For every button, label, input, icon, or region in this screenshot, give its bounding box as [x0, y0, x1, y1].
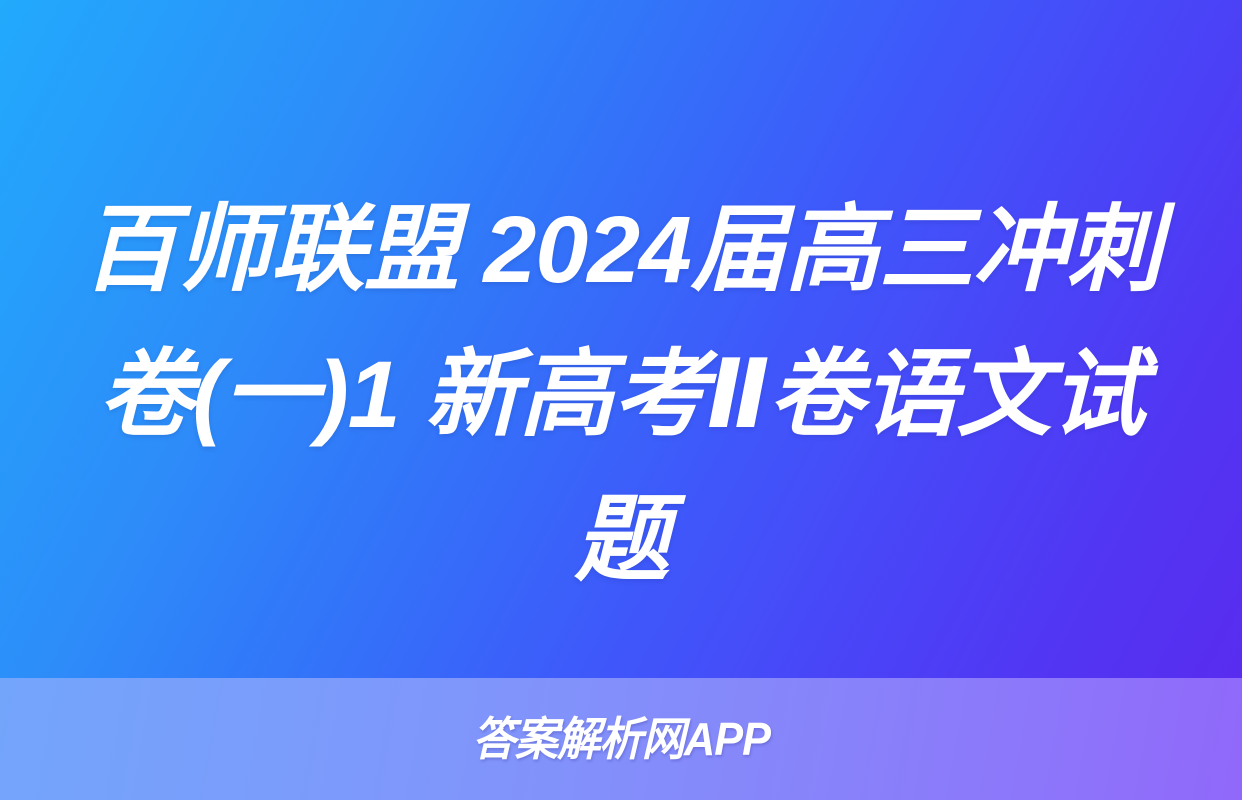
hero-gradient-banner: 百师联盟 2024届高三冲刺卷(一)1 新高考Ⅱ卷语文试题 — [0, 0, 1242, 678]
footer-watermark-text: 答案解析网APP — [472, 716, 770, 762]
footer-watermark-band: 答案解析网APP — [0, 678, 1242, 800]
page-title: 百师联盟 2024届高三冲刺卷(一)1 新高考Ⅱ卷语文试题 — [81, 178, 1162, 613]
title-card-page: 百师联盟 2024届高三冲刺卷(一)1 新高考Ⅱ卷语文试题 答案解析网APP — [0, 0, 1242, 800]
title-block: 百师联盟 2024届高三冲刺卷(一)1 新高考Ⅱ卷语文试题 — [81, 178, 1162, 613]
